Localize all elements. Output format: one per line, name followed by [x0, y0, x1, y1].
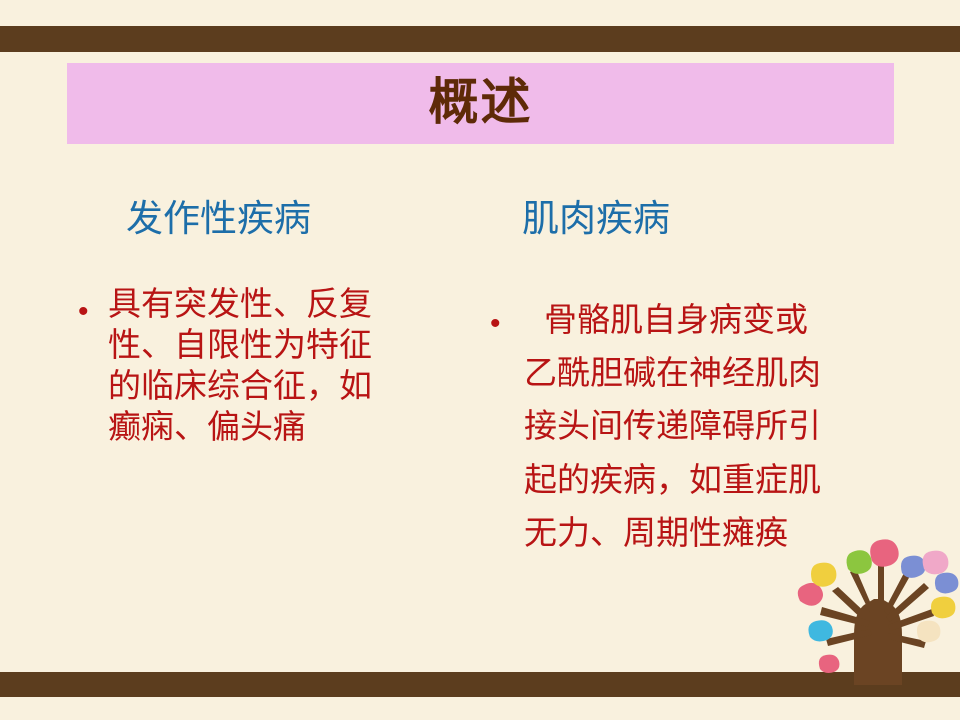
- bullet-item-right: • 骨骼肌自身病变或 乙酰胆碱在神经肌肉 接头间传递障碍所引 起的疾病，如重症肌…: [490, 293, 890, 560]
- column-heading-left: 发作性疾病: [78, 198, 468, 241]
- column-heading-right: 肌肉疾病: [490, 198, 890, 241]
- bullet-line: 起的疾病，如重症肌: [524, 453, 884, 506]
- bullet-text-right: 骨骼肌自身病变或 乙酰胆碱在神经肌肉 接头间传递障碍所引 起的疾病，如重症肌 无…: [524, 293, 884, 560]
- bullet-line: 无力、周期性瘫痪: [524, 506, 884, 559]
- bullet-text-left: 具有突发性、反复 性、自限性为特征 的临床综合征，如 癫痫、偏头痛: [108, 283, 418, 448]
- top-accent-bar: [0, 26, 960, 52]
- bullet-line: 接头间传递障碍所引: [524, 399, 884, 452]
- bullet-item-left: • 具有突发性、反复 性、自限性为特征 的临床综合征，如 癫痫、偏头痛: [78, 283, 468, 448]
- bullet-line: 骨骼肌自身病变或: [524, 293, 884, 346]
- bullet-marker-right: •: [490, 293, 524, 339]
- slide-canvas: 概述 发作性疾病 • 具有突发性、反复 性、自限性为特征 的临床综合征，如 癫痫…: [0, 0, 960, 720]
- title-band: 概述: [67, 63, 894, 144]
- bullet-marker-left: •: [78, 283, 108, 327]
- bullet-line: 的临床综合征，如: [108, 365, 418, 406]
- content-column-left: 发作性疾病 • 具有突发性、反复 性、自限性为特征 的临床综合征，如 癫痫、偏头…: [78, 198, 468, 448]
- content-column-right: 肌肉疾病 • 骨骼肌自身病变或 乙酰胆碱在神经肌肉 接头间传递障碍所引 起的疾病…: [490, 198, 890, 560]
- bottom-accent-bar: [0, 672, 960, 697]
- bullet-line: 乙酰胆碱在神经肌肉: [524, 346, 884, 399]
- bullet-line: 癫痫、偏头痛: [108, 406, 418, 447]
- bullet-line: 性、自限性为特征: [108, 324, 418, 365]
- bullet-line: 具有突发性、反复: [108, 283, 418, 324]
- page-title: 概述: [429, 77, 533, 131]
